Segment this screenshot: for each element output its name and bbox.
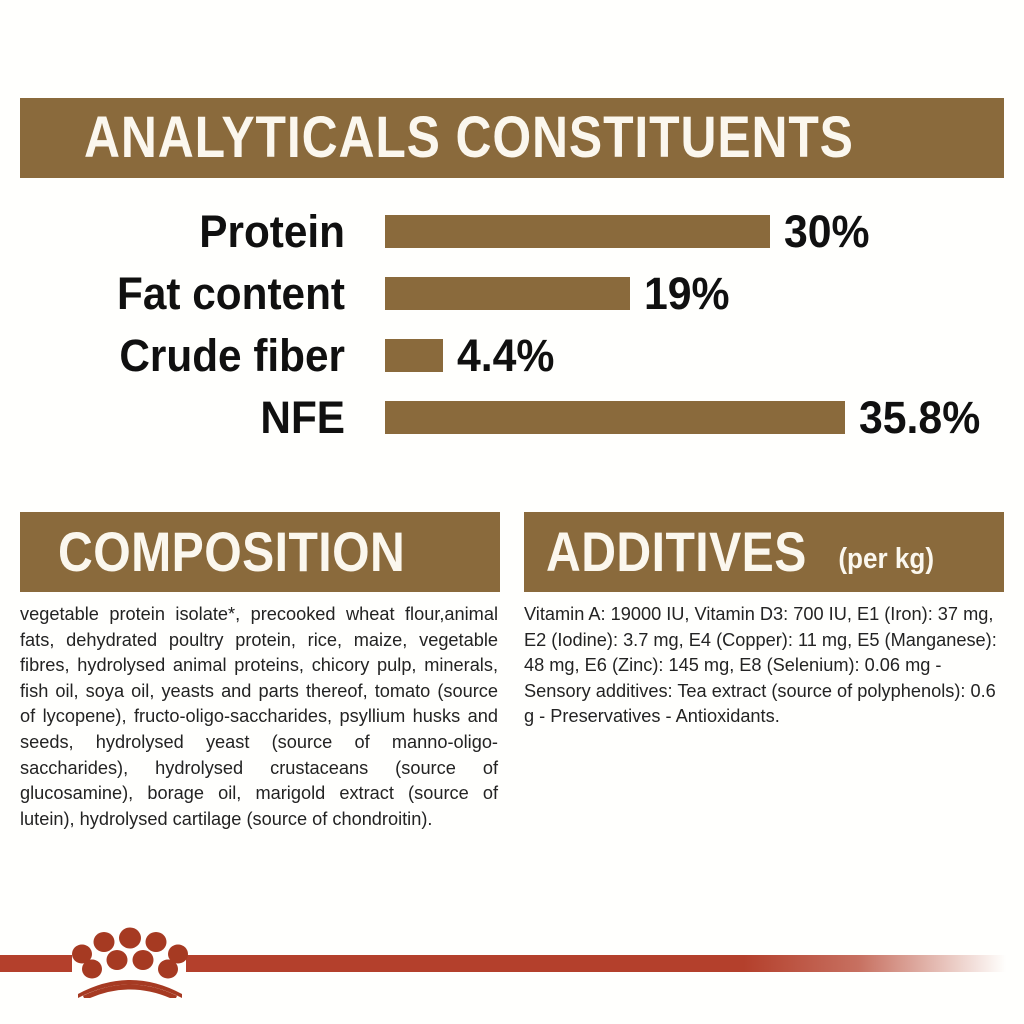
bar-label-fat-content: Fat content xyxy=(21,271,345,316)
analyticals-header-title: ANALYTICALS CONSTITUENTS xyxy=(84,109,854,167)
footer-rule-right xyxy=(186,955,1006,972)
bar-label-protein: Protein xyxy=(21,209,345,254)
bar-protein xyxy=(385,215,770,248)
chart-row: NFE 35.8% xyxy=(0,386,1024,448)
bar-value-fat-content: 19% xyxy=(644,271,730,316)
nutrition-label-page: ANALYTICALS CONSTITUENTS Protein 30% Fat… xyxy=(0,0,1024,1024)
bar-group-fat-content: 19% xyxy=(385,271,734,316)
bar-value-crude-fiber: 4.4% xyxy=(457,333,554,378)
additives-list-text: Vitamin A: 19000 IU, Vitamin D3: 700 IU,… xyxy=(524,602,1004,730)
bar-value-protein: 30% xyxy=(784,209,870,254)
additives-header-subtitle: (per kg) xyxy=(839,545,935,574)
bar-group-crude-fiber: 4.4% xyxy=(385,333,560,378)
bar-crude-fiber xyxy=(385,339,443,372)
bar-value-nfe: 35.8% xyxy=(859,395,980,440)
bar-label-crude-fiber: Crude fiber xyxy=(21,333,345,378)
chart-row: Protein 30% xyxy=(0,200,1024,262)
bar-nfe xyxy=(385,401,845,434)
composition-header-title: COMPOSITION xyxy=(58,524,405,580)
chart-row: Fat content 19% xyxy=(0,262,1024,324)
analyticals-bar-chart: Protein 30% Fat content 19% Crude fiber … xyxy=(0,200,1024,465)
footer-rule-left xyxy=(0,955,72,972)
royal-canin-crown-icon xyxy=(68,924,192,998)
crown-icon-svg xyxy=(68,924,192,998)
bar-group-nfe: 35.8% xyxy=(385,395,987,440)
additives-header: ADDITIVES (per kg) xyxy=(524,512,1004,592)
bar-fat-content xyxy=(385,277,630,310)
analyticals-constituents-header: ANALYTICALS CONSTITUENTS xyxy=(20,98,1004,178)
composition-ingredients-text: vegetable protein isolate*, precooked wh… xyxy=(20,602,498,832)
bar-label-nfe: NFE xyxy=(21,395,345,440)
chart-row: Crude fiber 4.4% xyxy=(0,324,1024,386)
additives-header-title: ADDITIVES xyxy=(546,524,807,580)
composition-header: COMPOSITION xyxy=(20,512,500,592)
bar-group-protein: 30% xyxy=(385,209,874,254)
